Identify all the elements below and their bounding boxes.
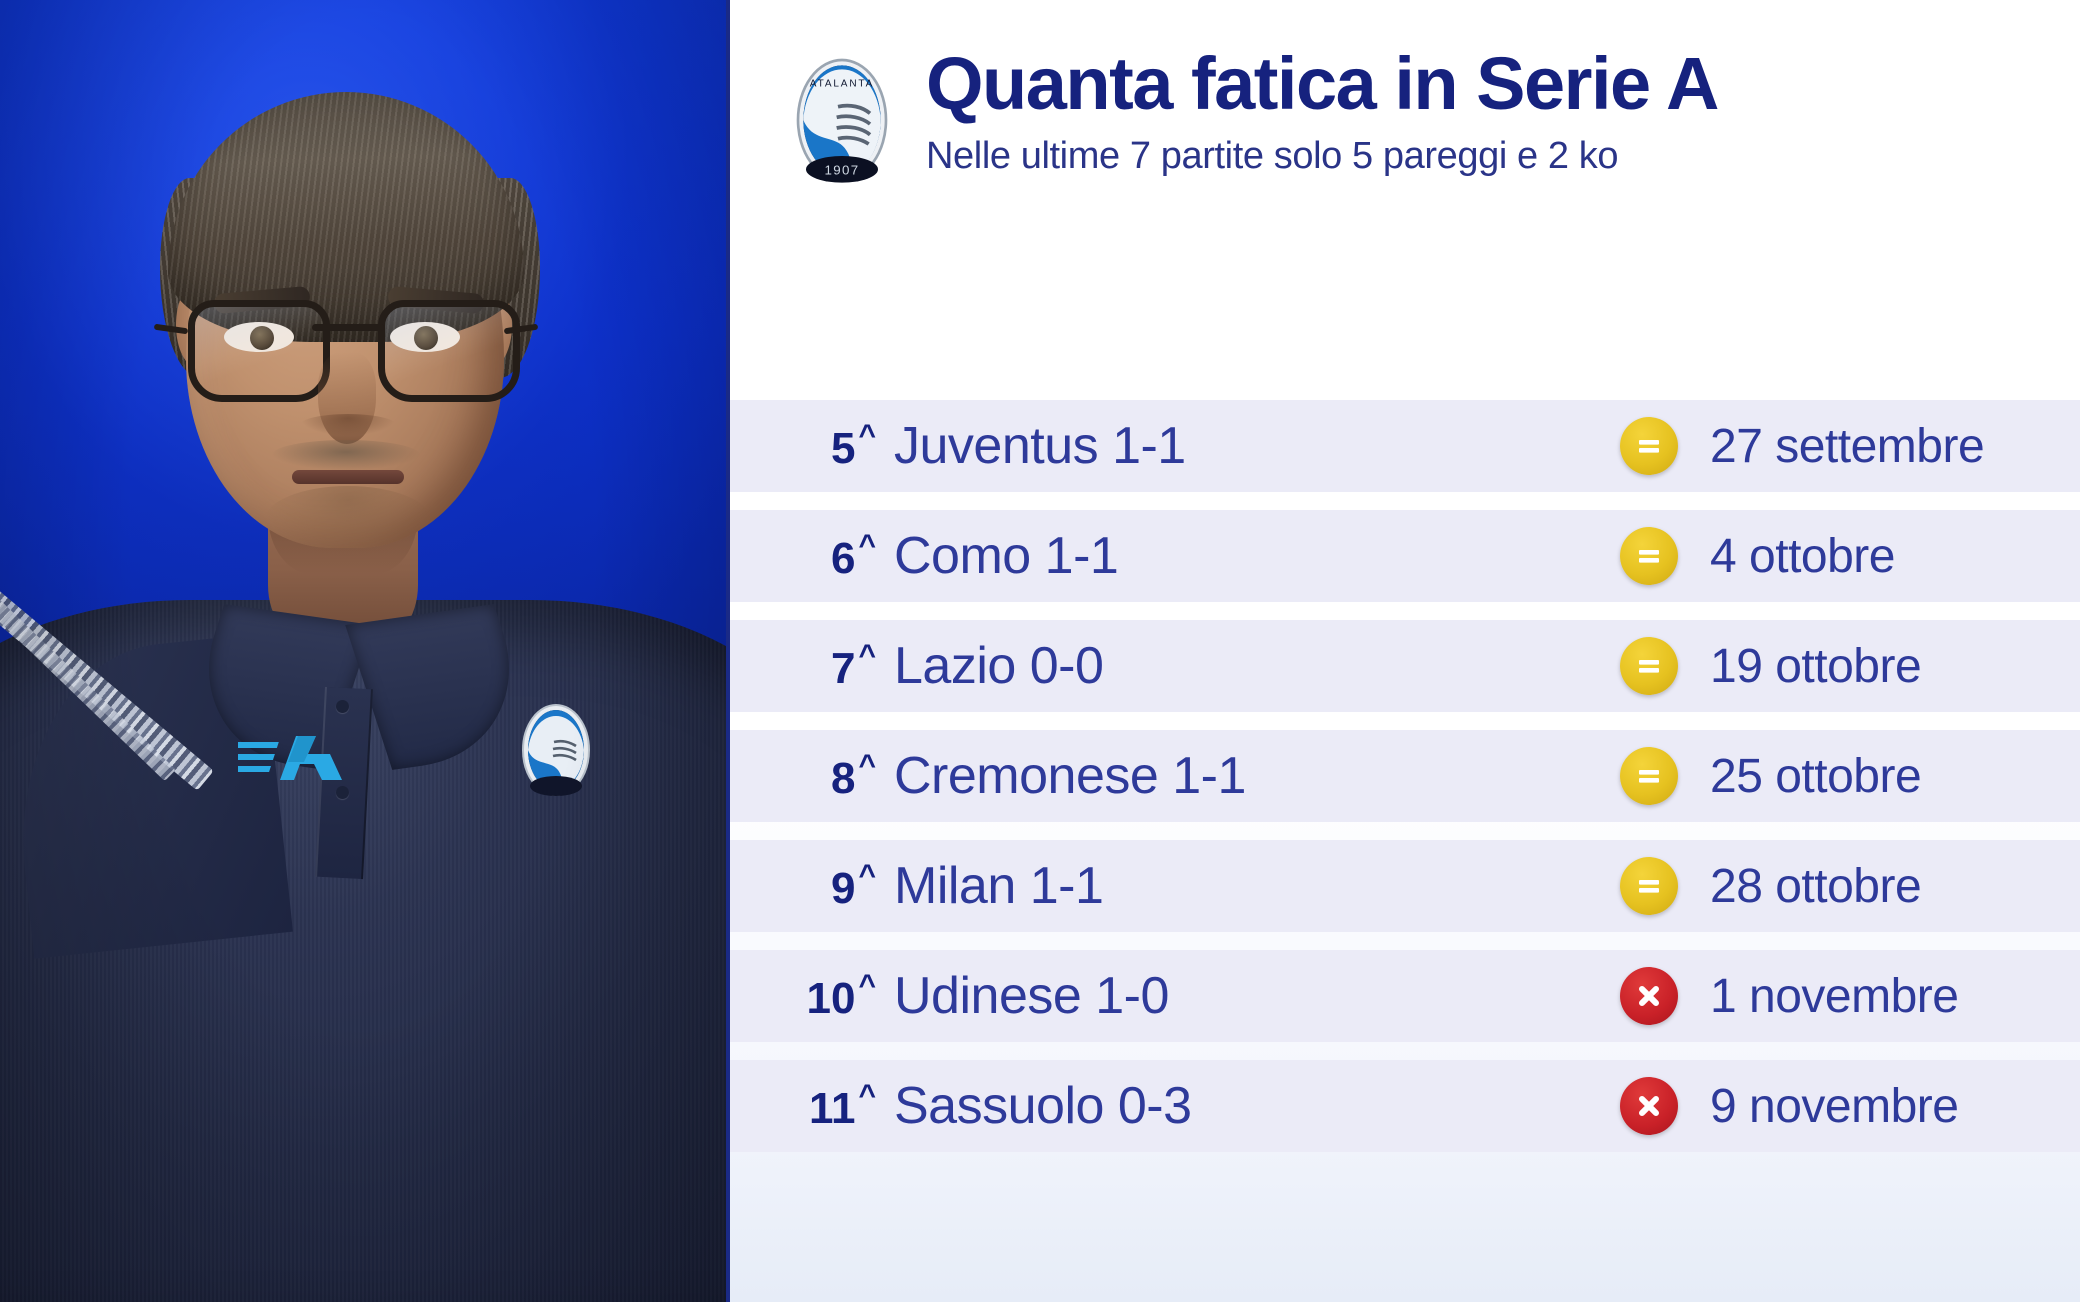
matchday-caret: ^ xyxy=(858,859,876,892)
result-icon-cell xyxy=(1594,527,1704,585)
match-date: 25 ottobre xyxy=(1704,749,2080,804)
matchday-caret: ^ xyxy=(858,1079,876,1112)
title-block: Quanta fatica in Serie A Nelle ultime 7 … xyxy=(926,46,2046,178)
chin-shadow xyxy=(264,486,432,556)
panel-header: 1907 ATALANTA Quanta fatica in Serie A N… xyxy=(730,0,2080,250)
result-icon-cell xyxy=(1594,857,1704,915)
nose-shadow xyxy=(300,414,396,436)
table-row: 8^Cremonese 1-125 ottobre xyxy=(730,730,2080,822)
page-subtitle: Nelle ultime 7 partite solo 5 pareggi e … xyxy=(926,135,2046,178)
coach-portrait xyxy=(0,0,726,1302)
matchday-caret: ^ xyxy=(858,639,876,672)
matchday-number: 9^ xyxy=(730,859,894,914)
table-row: 9^Milan 1-128 ottobre xyxy=(730,840,2080,932)
match-result-label: Como 1-1 xyxy=(894,526,1594,586)
match-list: 5^Juventus 1-127 settembre6^Como 1-14 ot… xyxy=(730,400,2080,1170)
match-result-label: Sassuolo 0-3 xyxy=(894,1076,1594,1136)
matchday-caret: ^ xyxy=(858,749,876,782)
mouth xyxy=(292,470,404,484)
match-date: 27 settembre xyxy=(1704,419,2080,474)
matchday-number: 6^ xyxy=(730,529,894,584)
lens-left xyxy=(188,300,330,402)
result-icon-cell xyxy=(1594,747,1704,805)
glasses-bridge xyxy=(312,324,384,331)
table-row: 7^Lazio 0-019 ottobre xyxy=(730,620,2080,712)
result-icon-cell xyxy=(1594,1077,1704,1135)
table-row: 6^Como 1-14 ottobre xyxy=(730,510,2080,602)
result-icon-cell xyxy=(1594,637,1704,695)
equals-icon xyxy=(1620,747,1678,805)
match-result-label: Lazio 0-0 xyxy=(894,636,1594,696)
match-result-label: Juventus 1-1 xyxy=(894,416,1594,476)
matchday-caret: ^ xyxy=(858,419,876,452)
matchday-caret: ^ xyxy=(858,529,876,562)
cross-icon xyxy=(1620,967,1678,1025)
new-balance-logo-icon xyxy=(238,726,356,792)
stats-panel: 1907 ATALANTA Quanta fatica in Serie A N… xyxy=(726,0,2080,1302)
result-icon-cell xyxy=(1594,417,1704,475)
match-date: 28 ottobre xyxy=(1704,859,2080,914)
table-row: 5^Juventus 1-127 settembre xyxy=(730,400,2080,492)
matchday-number: 10^ xyxy=(730,969,894,1024)
equals-icon xyxy=(1620,527,1678,585)
match-result-label: Cremonese 1-1 xyxy=(894,746,1594,806)
match-date: 19 ottobre xyxy=(1704,639,2080,694)
matchday-number: 8^ xyxy=(730,749,894,804)
atalanta-crest-icon: 1907 ATALANTA xyxy=(792,56,892,184)
shirt-club-crest-icon xyxy=(520,702,592,798)
matchday-caret: ^ xyxy=(858,969,876,1002)
lens-right xyxy=(378,300,520,402)
match-result-label: Udinese 1-0 xyxy=(894,966,1594,1026)
matchday-number: 7^ xyxy=(730,639,894,694)
page-title: Quanta fatica in Serie A xyxy=(926,46,2046,121)
moustache xyxy=(272,440,420,470)
infographic-canvas: 1907 ATALANTA Quanta fatica in Serie A N… xyxy=(0,0,2080,1302)
coach-photo-panel xyxy=(0,0,726,1302)
match-result-label: Milan 1-1 xyxy=(894,856,1594,916)
equals-icon xyxy=(1620,417,1678,475)
equals-icon xyxy=(1620,857,1678,915)
cross-icon xyxy=(1620,1077,1678,1135)
equals-icon xyxy=(1620,637,1678,695)
svg-text:ATALANTA: ATALANTA xyxy=(810,79,874,90)
table-row: 11^Sassuolo 0-39 novembre xyxy=(730,1060,2080,1152)
result-icon-cell xyxy=(1594,967,1704,1025)
matchday-number: 11^ xyxy=(730,1079,894,1134)
match-date: 4 ottobre xyxy=(1704,529,2080,584)
shirt-button xyxy=(336,700,349,713)
table-row: 10^Udinese 1-01 novembre xyxy=(730,950,2080,1042)
match-date: 9 novembre xyxy=(1704,1079,2080,1134)
matchday-number: 5^ xyxy=(730,419,894,474)
svg-text:1907: 1907 xyxy=(825,163,860,178)
match-date: 1 novembre xyxy=(1704,969,2080,1024)
